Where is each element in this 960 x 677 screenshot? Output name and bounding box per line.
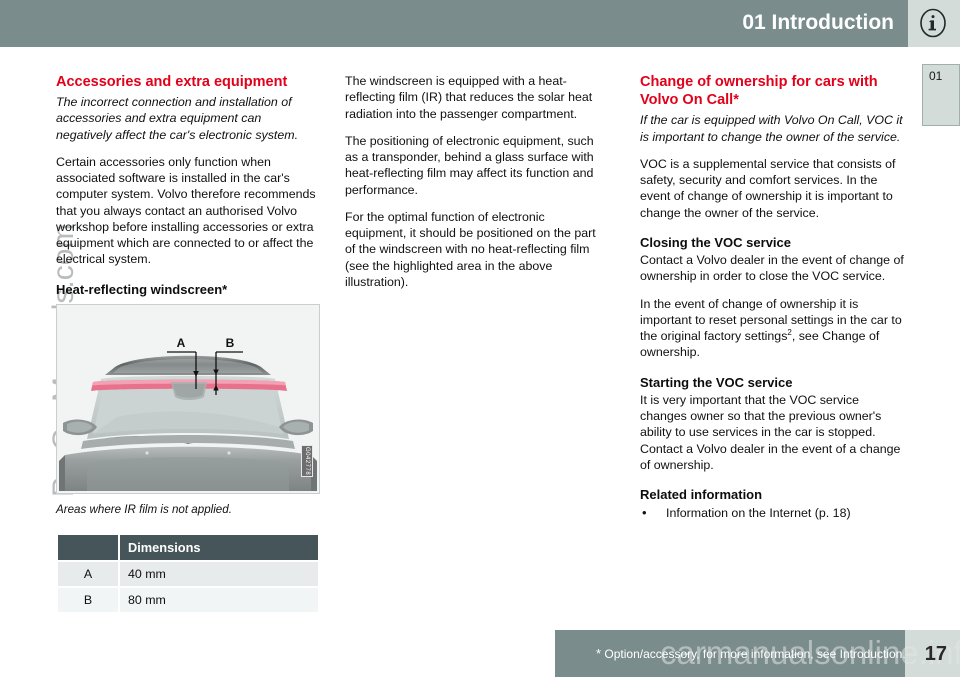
figure-frame: A B [56, 304, 320, 494]
table-row: A 40 mm [58, 562, 318, 586]
subtitle-starting-voc-service: Starting the VOC service [640, 375, 904, 391]
lead-paragraph-accessories: The incorrect connection and installatio… [56, 94, 320, 143]
page-header: 01 Introduction [0, 0, 960, 47]
paragraph-accessories-1: Certain accessories only function when a… [56, 154, 320, 268]
section-title-accessories: Accessories and extra equipment [56, 73, 320, 91]
column-middle: The windscreen is equipped with a heat-r… [345, 73, 609, 290]
paragraph-windscreen-2: The positioning of electronic equipment,… [345, 133, 609, 198]
figure-label-b: B [226, 336, 235, 350]
page-footer: carmanualsonline.info * Option/accessory… [0, 630, 960, 677]
paragraph-voc-1: VOC is a supplemental service that consi… [640, 156, 904, 221]
dimensions-table: Dimensions A 40 mm B 80 mm [56, 533, 320, 614]
figure-heat-reflecting-windscreen: A B [56, 304, 320, 516]
paragraph-voc-3: In the event of change of ownership it i… [640, 296, 904, 361]
related-information-list: Information on the Internet (p. 18) [640, 505, 904, 522]
table-cell-key: A [58, 562, 118, 586]
table-cell-value: 40 mm [120, 562, 318, 586]
footnote-text: Option/accessory, for more information, … [604, 647, 905, 661]
table-header-dimensions: Dimensions [120, 535, 318, 560]
table-cell-value: 80 mm [120, 588, 318, 612]
subtitle-related-information: Related information [640, 487, 904, 503]
asterisk-symbol: * [596, 646, 601, 661]
chapter-title: 01 Introduction [742, 11, 894, 35]
figure-label-a: A [177, 336, 186, 350]
table-header-blank [58, 535, 118, 560]
column-left: Accessories and extra equipment The inco… [56, 73, 320, 614]
info-circle-icon [918, 8, 948, 38]
chapter-tab-rail: 01 [908, 47, 960, 630]
list-item[interactable]: Information on the Internet (p. 18) [640, 505, 904, 522]
figure-caption: Areas where IR film is not applied. [56, 503, 320, 516]
figure-image-id: G042778 [301, 445, 313, 477]
windscreen-illustration: A B [57, 305, 319, 493]
paragraph-windscreen-3: For the optimal function of electronic e… [345, 209, 609, 290]
column-right: Change of ownership for cars with Volvo … [640, 73, 904, 522]
table-cell-key: B [58, 588, 118, 612]
subtitle-closing-voc-service: Closing the VOC service [640, 235, 904, 251]
chapter-tab-label: 01 [929, 69, 942, 83]
chapter-tab-01[interactable]: 01 [922, 64, 960, 126]
paragraph-voc-4: It is very important that the VOC servic… [640, 392, 904, 473]
lead-paragraph-voc: If the car is equipped with Volvo On Cal… [640, 112, 904, 145]
page-number: 17 [925, 643, 947, 666]
paragraph-windscreen-1: The windscreen is equipped with a heat-r… [345, 73, 609, 122]
footnote-option-accessory: * Option/accessory, for more information… [596, 646, 906, 661]
subtitle-heat-reflecting-windscreen: Heat-reflecting windscreen* [56, 282, 320, 298]
related-link-label: Information on the Internet (p. 18) [666, 506, 851, 520]
page-content: Accessories and extra equipment The inco… [0, 47, 908, 630]
section-title-change-of-ownership: Change of ownership for cars with Volvo … [640, 73, 904, 109]
table-row: B 80 mm [58, 588, 318, 612]
table-header-row: Dimensions [58, 535, 318, 560]
paragraph-voc-2: Contact a Volvo dealer in the event of c… [640, 252, 904, 285]
